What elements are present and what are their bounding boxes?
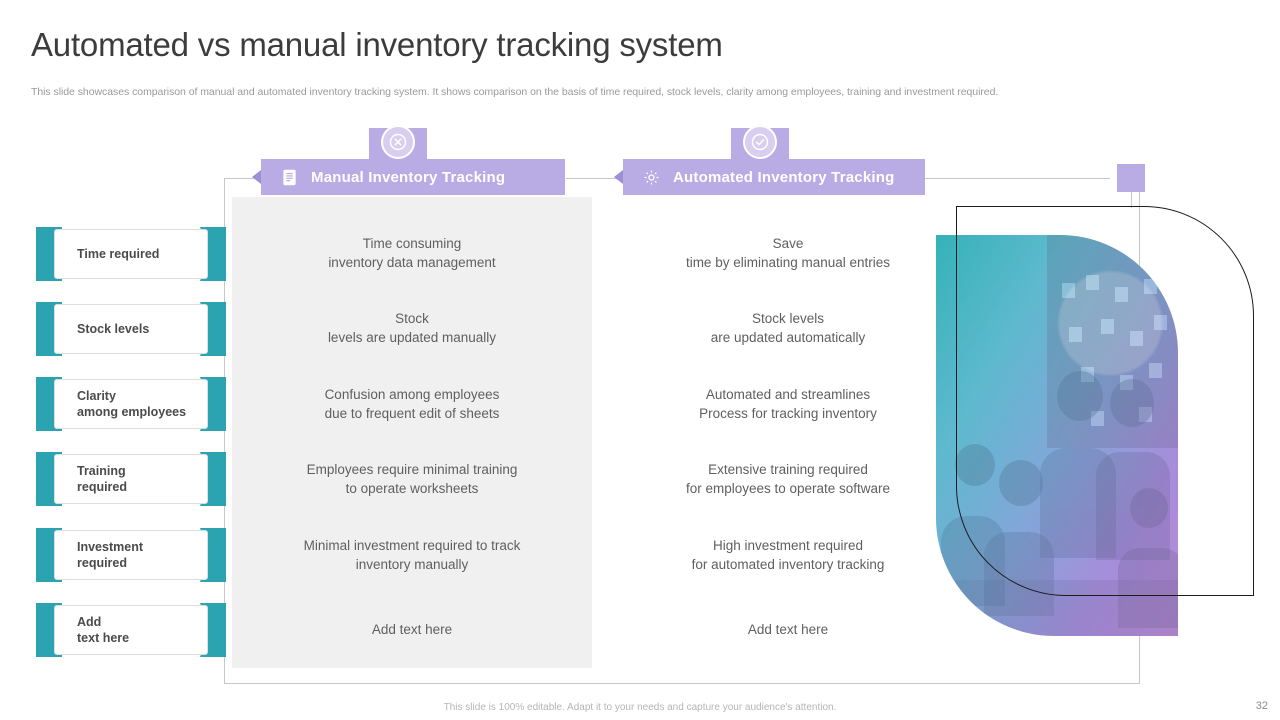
column-automated: Save time by eliminating manual entries …: [608, 197, 968, 668]
criteria-label: Clarity among employees: [54, 379, 208, 429]
criteria-label: Time required: [54, 229, 208, 279]
page-subtitle: This slide showcases comparison of manua…: [31, 86, 998, 98]
cell-manual-stock: Stock levels are updated manually: [232, 310, 592, 347]
cell-manual-clarity: Confusion among employees due to frequen…: [232, 386, 592, 423]
criteria-add-text-here[interactable]: Add text here: [36, 603, 226, 657]
photo-outline-frame: [956, 206, 1254, 596]
criteria-time-required[interactable]: Time required: [36, 227, 226, 281]
cell-automated-time: Save time by eliminating manual entries: [608, 235, 968, 272]
criteria-label: Stock levels: [54, 304, 208, 354]
column-manual: Time consuming inventory data management…: [232, 197, 592, 668]
tab-automated-inventory-tracking[interactable]: Automated Inventory Tracking: [623, 159, 925, 195]
criteria-label: Add text here: [54, 605, 208, 655]
connector-arrow-middle: [614, 170, 623, 184]
cell-manual-time: Time consuming inventory data management: [232, 235, 592, 272]
connector-arrow-left: [252, 170, 261, 184]
criteria-stock-levels[interactable]: Stock levels: [36, 302, 226, 356]
cell-manual-training: Employees require minimal training to op…: [232, 461, 592, 498]
cell-automated-stock: Stock levels are updated automatically: [608, 310, 968, 347]
cell-manual-investment: Minimal investment required to track inv…: [232, 537, 592, 574]
footer-note: This slide is 100% editable. Adapt it to…: [0, 702, 1280, 713]
criteria-label: Training required: [54, 454, 208, 504]
cell-automated-investment: High investment required for automated i…: [608, 537, 968, 574]
criteria-investment-required[interactable]: Investment required: [36, 528, 226, 582]
page-number: 32: [1256, 700, 1268, 712]
cell-automated-add-text[interactable]: Add text here: [608, 621, 968, 640]
page-title: Automated vs manual inventory tracking s…: [31, 26, 723, 64]
cell-manual-add-text[interactable]: Add text here: [232, 621, 592, 640]
gear-icon: [641, 167, 661, 187]
close-circle-icon: [381, 125, 415, 159]
tab-label: Manual Inventory Tracking: [311, 169, 505, 186]
check-circle-icon: [743, 125, 777, 159]
cell-automated-training: Extensive training required for employee…: [608, 461, 968, 498]
slide: Automated vs manual inventory tracking s…: [0, 0, 1280, 720]
decorative-square: [1117, 164, 1145, 192]
criteria-label: Investment required: [54, 530, 208, 580]
tab-manual-inventory-tracking[interactable]: Manual Inventory Tracking: [261, 159, 565, 195]
cell-automated-clarity: Automated and streamlines Process for tr…: [608, 386, 968, 423]
document-list-icon: [279, 167, 299, 187]
criteria-training-required[interactable]: Training required: [36, 452, 226, 506]
tab-label: Automated Inventory Tracking: [673, 169, 894, 186]
criteria-clarity-among-employees[interactable]: Clarity among employees: [36, 377, 226, 431]
connector-line-right: [924, 178, 1110, 179]
